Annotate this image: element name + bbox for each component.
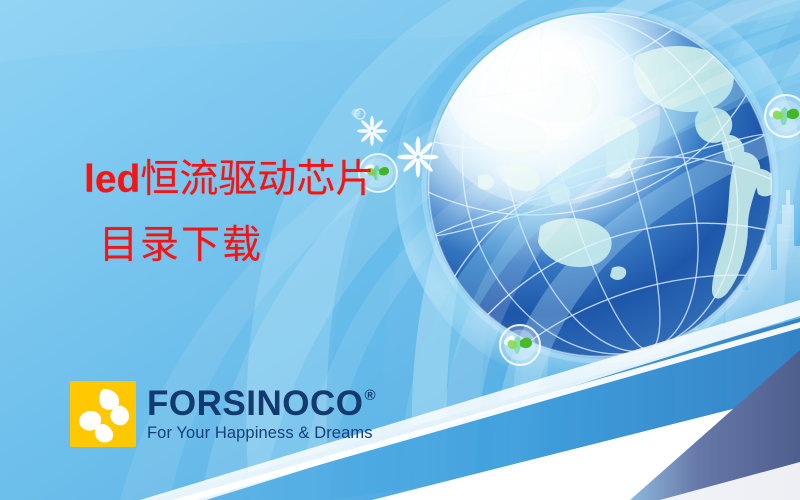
logo-text: FORSINOCO® For Your Happiness & Dreams [147,386,376,442]
company-logo: FORSINOCO® For Your Happiness & Dreams [70,381,376,447]
slide-title: led恒流驱动芯片 目录下载 [84,160,504,266]
registered-mark: ® [364,388,376,403]
title-line-1-prefix: led [84,158,140,201]
title-line-2: 目录下载 [99,226,504,266]
brand-word: FORSINOCO [147,386,363,421]
title-line-1-chinese: 恒流驱动芯片 [140,157,374,202]
brand-tagline: For Your Happiness & Dreams [147,425,376,442]
brand-name: FORSINOCO® [147,386,376,421]
title-line-1: led恒流驱动芯片 [84,160,504,200]
slide-canvas: led恒流驱动芯片 目录下载 FORSINOCO® For Your Happi… [0,0,800,500]
pinwheel-flower-icon [70,381,136,447]
logo-mark [70,381,136,447]
